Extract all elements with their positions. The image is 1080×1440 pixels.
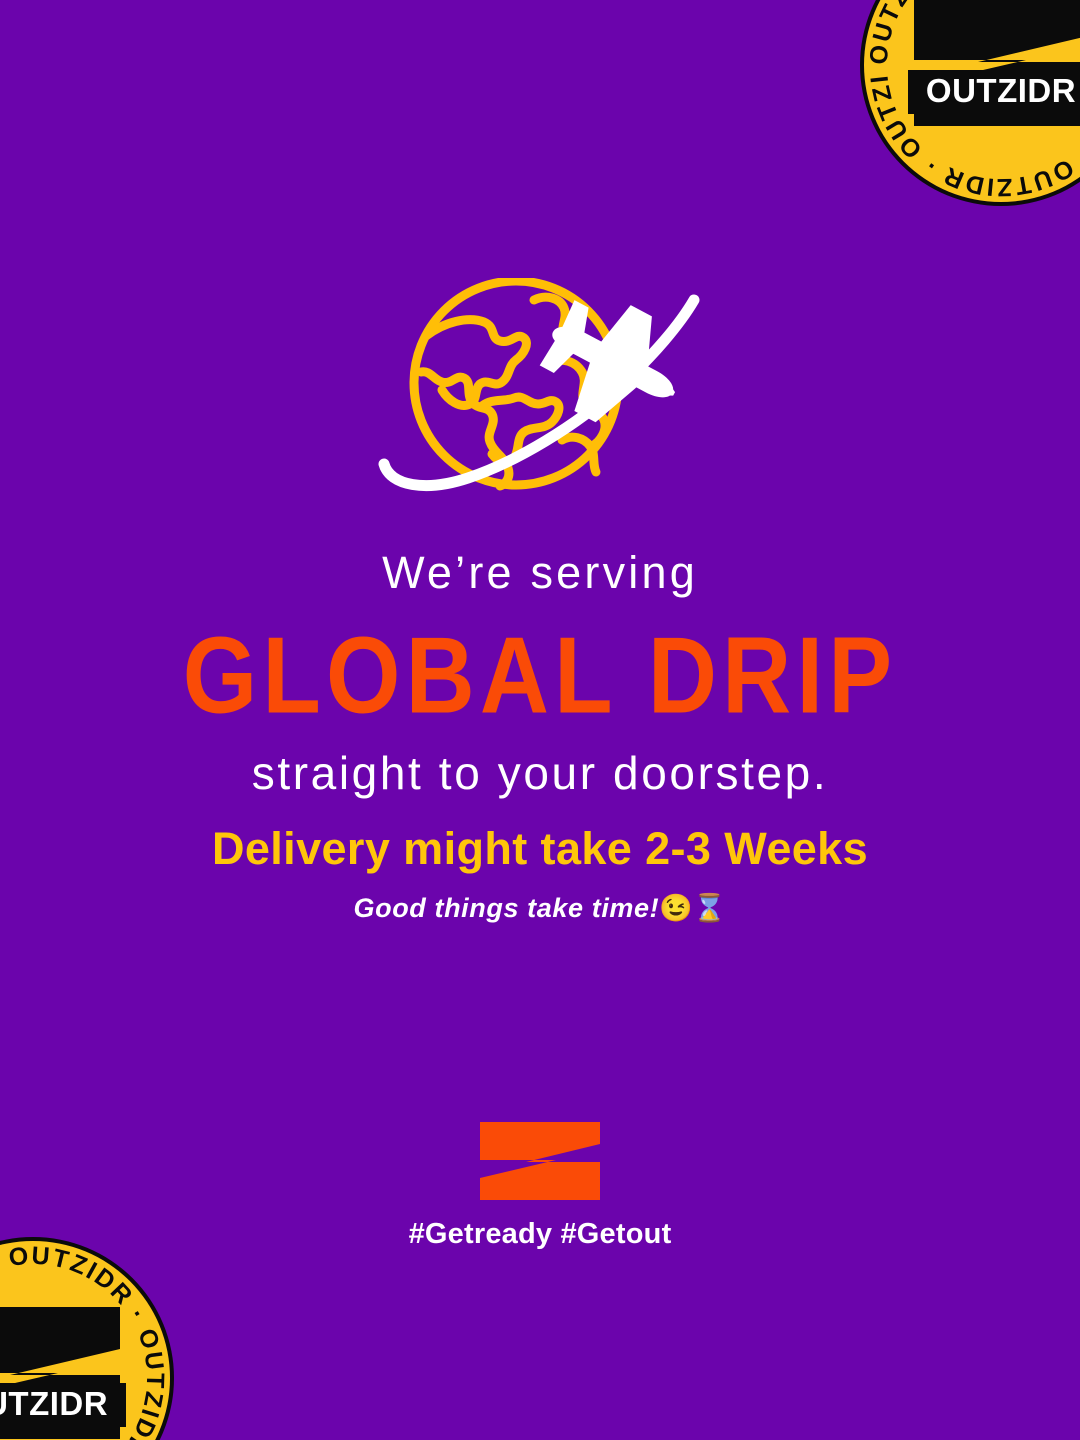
outzidr-sticker-badge-top-right: OUTZIDR · OUTZIDR · OUTZIDR · OUTZIDR · … (856, 0, 1080, 210)
outzidr-sticker-badge-bottom-left: OUTZIDR · OUTZIDR · OUTZIDR · OUTZIDR · … (0, 1233, 178, 1440)
headline-block: We’re serving GLOBAL DRIP straight to yo… (0, 548, 1080, 798)
globe-with-airplane-icon (364, 278, 716, 510)
headline-sub: straight to your doorstep. (0, 748, 1080, 799)
footer-hashtags: #Getready #Getout (0, 1218, 1080, 1251)
footer-block: #Getready #Getout (0, 1120, 1080, 1251)
delivery-emoji: 😉⌛ (659, 893, 726, 923)
outzidr-z-logo (478, 1120, 602, 1202)
delivery-subtext: Good things take time!😉⌛ (0, 892, 1080, 924)
delivery-subtext-label: Good things take time! (354, 893, 660, 923)
headline-eyebrow: We’re serving (0, 548, 1080, 598)
badge-wordmark-plate: OUTZIDR (0, 1383, 126, 1427)
badge-wordmark: OUTZIDR (0, 1385, 108, 1422)
badge-wordmark: OUTZIDR (926, 72, 1076, 109)
badge-wordmark-plate: OUTZIDR (908, 70, 1080, 114)
delivery-note-block: Delivery might take 2-3 Weeks Good thing… (0, 822, 1080, 924)
delivery-headline: Delivery might take 2-3 Weeks (0, 822, 1080, 876)
promo-poster: OUTZIDR · OUTZIDR · OUTZIDR · OUTZIDR · … (0, 0, 1080, 1440)
headline-main: GLOBAL DRIP (0, 610, 1080, 742)
